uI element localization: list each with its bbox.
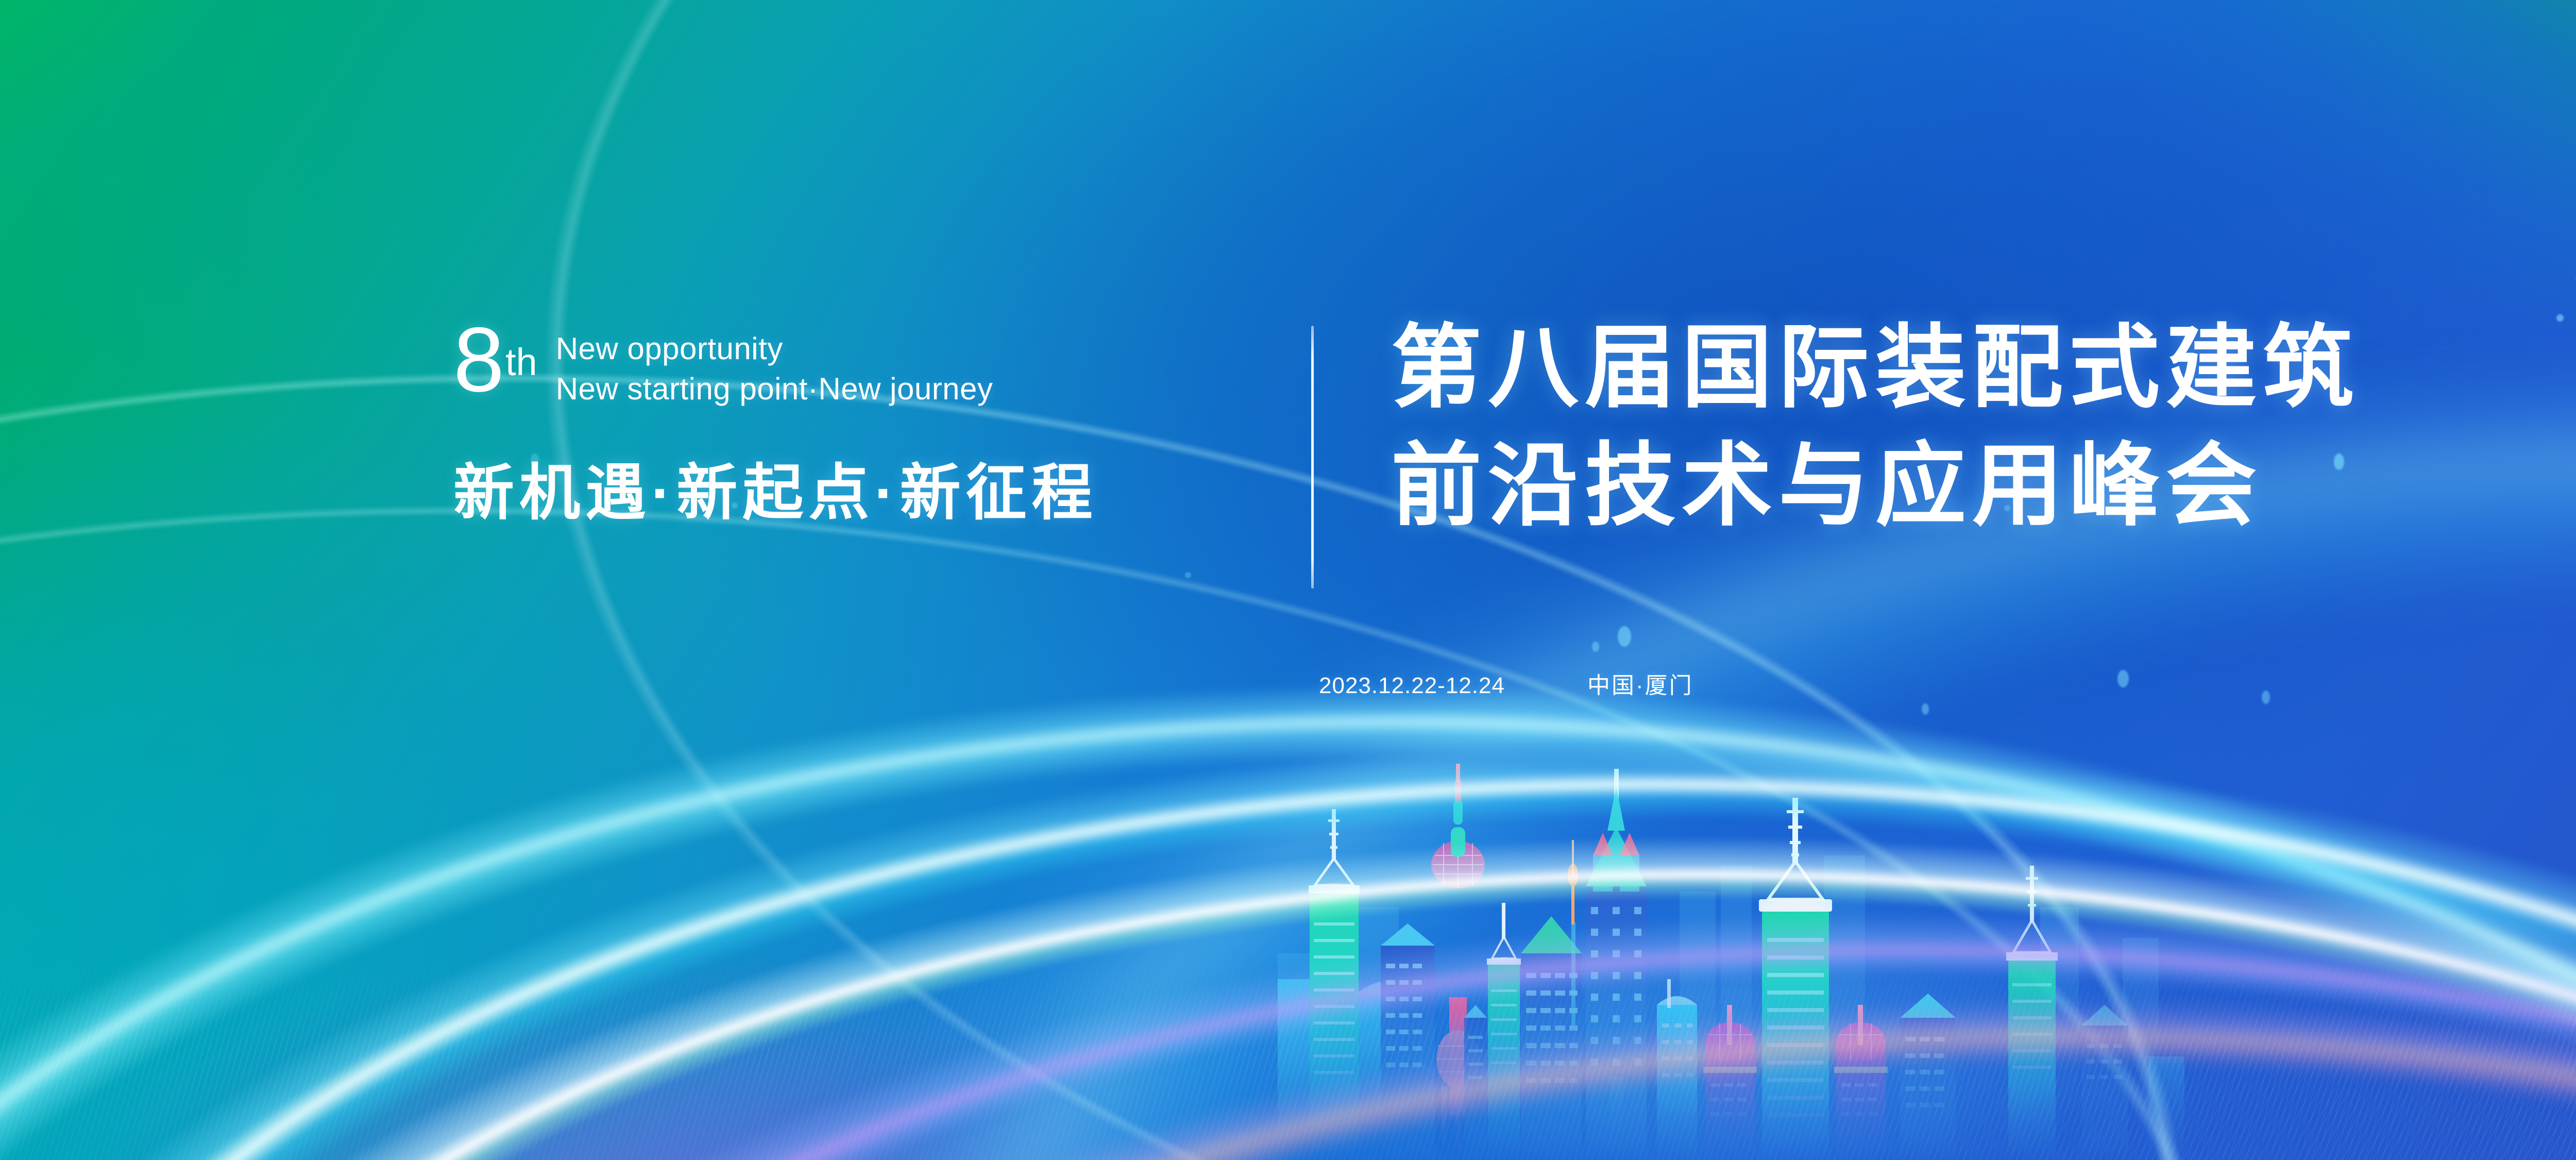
slogan-chinese: 新机遇·新起点·新征程	[453, 463, 1098, 524]
edition-number: 8	[453, 320, 502, 400]
slogan-english-line-1: New opportunity	[556, 329, 993, 369]
edition-suffix: th	[505, 343, 537, 381]
banner-content: 8 th New opportunity New starting point·…	[0, 0, 2576, 1160]
conference-title: 第八届国际装配式建筑 前沿技术与应用峰会	[1391, 309, 2576, 545]
edition-and-slogan-block: 8 th New opportunity New starting point·…	[453, 320, 1288, 598]
edition-ordinal: 8 th	[453, 320, 537, 400]
conference-banner: 8 th New opportunity New starting point·…	[0, 0, 2576, 1160]
event-location: 中国·厦门	[1587, 667, 1693, 700]
event-meta: 2023.12.22-12.24 中国·厦门	[1319, 667, 1693, 700]
edition-row: 8 th New opportunity New starting point·…	[453, 320, 1288, 409]
conference-title-line-1: 第八届国际装配式建筑	[1391, 309, 2576, 427]
slogan-english: New opportunity New starting point·New j…	[556, 329, 993, 409]
slogan-english-line-2: New starting point·New journey	[556, 369, 993, 409]
vertical-divider	[1311, 326, 1314, 589]
event-date: 2023.12.22-12.24	[1319, 673, 1505, 699]
conference-title-line-2: 前沿技术与应用峰会	[1391, 427, 2576, 545]
